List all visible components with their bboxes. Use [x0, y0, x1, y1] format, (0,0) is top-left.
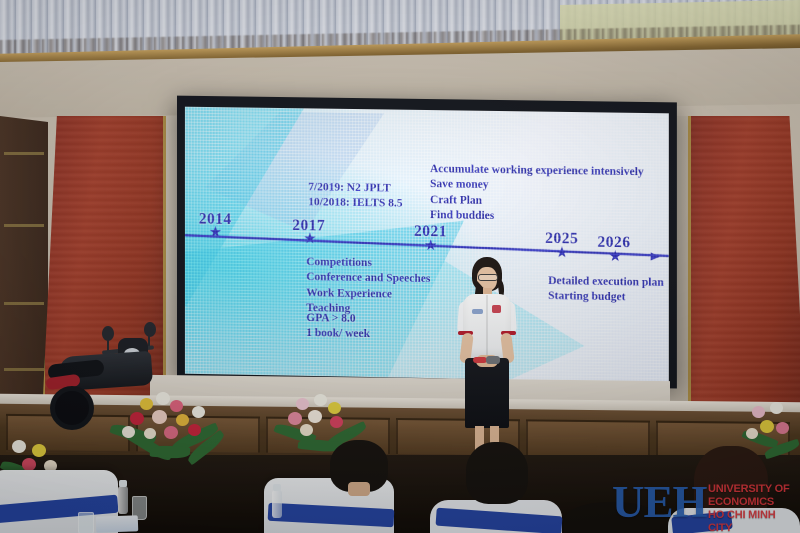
annotation-below-2017-goals: GPA > 8.0 1 book/ week: [306, 311, 370, 343]
water-bottle-2: [272, 490, 282, 518]
audience-head-2: [466, 442, 528, 504]
presenter-microphone: [486, 356, 500, 364]
led-screen-bezel: 2014 ★ 2017 ★ 2021 ★ 2025 ★ 2026 ★ 7/201…: [177, 96, 677, 389]
annotation-above-2017: 7/2019: N2 JPLT 10/2018: IELTS 8.5: [308, 180, 402, 212]
annotation-below-2025: Detailed execution plan Starting budget: [548, 274, 664, 307]
name-card: [96, 515, 139, 532]
ueh-watermark: UEH UNIVERSITY OF ECONOMICS HO CHI MINH …: [612, 474, 794, 526]
bottle-cap-2: [273, 484, 281, 491]
presenter-clicker: [473, 357, 487, 363]
presenter: [452, 257, 522, 465]
timeline-marker-2014-icon: ★: [209, 226, 222, 241]
timeline-marker-2026-icon: ★: [608, 250, 622, 265]
annotation-below-2017-activities: Competitions Conference and Speeches Wor…: [306, 255, 430, 318]
glasses-icon: [478, 274, 498, 281]
water-bottle-1: [118, 486, 128, 514]
ueh-logo-subtitle: UNIVERSITY OF ECONOMICS HO CHI MINH CITY: [708, 483, 794, 533]
presentation-slide: 2014 ★ 2017 ★ 2021 ★ 2025 ★ 2026 ★ 7/201…: [185, 107, 669, 383]
audience-neck-1: [348, 482, 370, 496]
wood-panel-right: [688, 116, 800, 428]
timeline-arrowhead: [651, 252, 660, 260]
drinking-glass-2: [78, 512, 94, 533]
ueh-logo-text: UEH: [612, 476, 707, 528]
led-screen: 2014 ★ 2017 ★ 2021 ★ 2025 ★ 2026 ★ 7/201…: [185, 107, 669, 383]
annotation-above-2021: Accumulate working experience intensivel…: [430, 162, 644, 226]
timeline-marker-2025-icon: ★: [555, 246, 569, 261]
timeline-marker-2021-icon: ★: [424, 239, 437, 254]
auditorium-photo: 2014 ★ 2017 ★ 2021 ★ 2025 ★ 2026 ★ 7/201…: [0, 0, 800, 533]
timeline-marker-2017-icon: ★: [303, 232, 316, 247]
bottle-cap-1: [119, 480, 127, 487]
flower-arrangement-left: [110, 388, 230, 460]
